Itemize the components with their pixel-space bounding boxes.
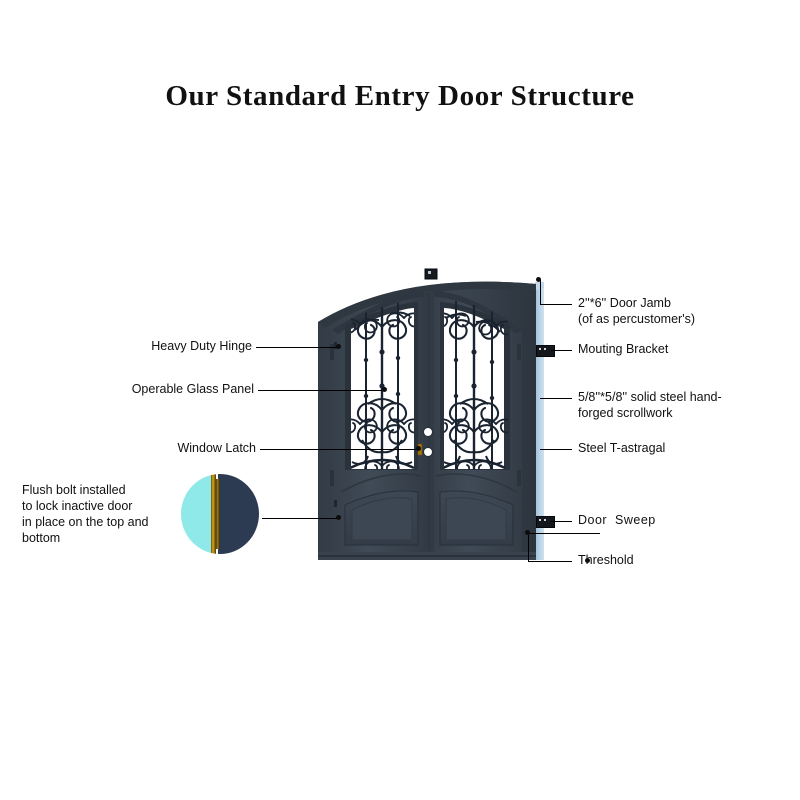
leader-door-jamb bbox=[540, 304, 572, 305]
leader-threshold-base bbox=[528, 533, 600, 534]
diagram-canvas: Our Standard Entry Door Structure bbox=[0, 0, 800, 800]
leader-threshold-riser bbox=[528, 533, 529, 562]
leader-dot-window-latch bbox=[416, 446, 421, 451]
label-steel-t-astragal: Steel T-astragal bbox=[578, 440, 798, 456]
leader-operable-glass-panel bbox=[258, 390, 386, 391]
top-bracket bbox=[425, 269, 437, 279]
label-operable-glass-panel: Operable Glass Panel bbox=[0, 381, 254, 397]
label-scrollwork: 5/8''*5/8'' solid steel hand- forged scr… bbox=[578, 389, 800, 421]
label-threshold: Threshold bbox=[578, 552, 798, 568]
leader-mouting-bracket bbox=[551, 350, 572, 351]
leader-door-sweep bbox=[551, 521, 572, 522]
leader-heavy-duty-hinge bbox=[256, 347, 340, 348]
leader-door-jamb-riser bbox=[540, 280, 541, 305]
flush-bolt-detail-circle bbox=[181, 474, 259, 554]
threshold-strip bbox=[300, 552, 560, 566]
mounting-bracket-upper bbox=[536, 345, 555, 357]
label-flush-bolt: Flush bolt installed to lock inactive do… bbox=[22, 482, 182, 546]
leader-steel-t-astragal bbox=[540, 449, 572, 450]
label-door-sweep: Door Sweep bbox=[578, 512, 798, 528]
leader-dot-flush-bolt bbox=[336, 515, 341, 520]
inset-glass-half bbox=[181, 474, 211, 554]
label-heavy-duty-hinge: Heavy Duty Hinge bbox=[0, 338, 252, 354]
center-astragal bbox=[424, 291, 434, 552]
label-door-jamb: 2''*6'' Door Jamb (of as percustomer's) bbox=[578, 295, 798, 327]
leader-scrollwork bbox=[540, 398, 572, 399]
leader-flush-bolt bbox=[262, 518, 340, 519]
label-window-latch: Window Latch bbox=[0, 440, 256, 456]
leader-threshold bbox=[528, 561, 572, 562]
leader-dot-threshold bbox=[525, 530, 530, 535]
left-door-leaf[interactable] bbox=[332, 291, 424, 552]
label-mouting-bracket: Mouting Bracket bbox=[578, 341, 798, 357]
right-door-leaf[interactable] bbox=[434, 291, 522, 552]
inset-door-half bbox=[218, 474, 259, 554]
flush-bolt-strip-inner bbox=[216, 479, 220, 549]
leader-dot-hinge bbox=[336, 344, 341, 349]
flush-bolt-strip bbox=[211, 474, 216, 554]
leader-window-latch bbox=[260, 449, 420, 450]
leader-dot-door-jamb bbox=[536, 277, 541, 282]
door-sweep-bracket bbox=[536, 516, 555, 528]
leader-dot-glass-panel bbox=[382, 387, 387, 392]
